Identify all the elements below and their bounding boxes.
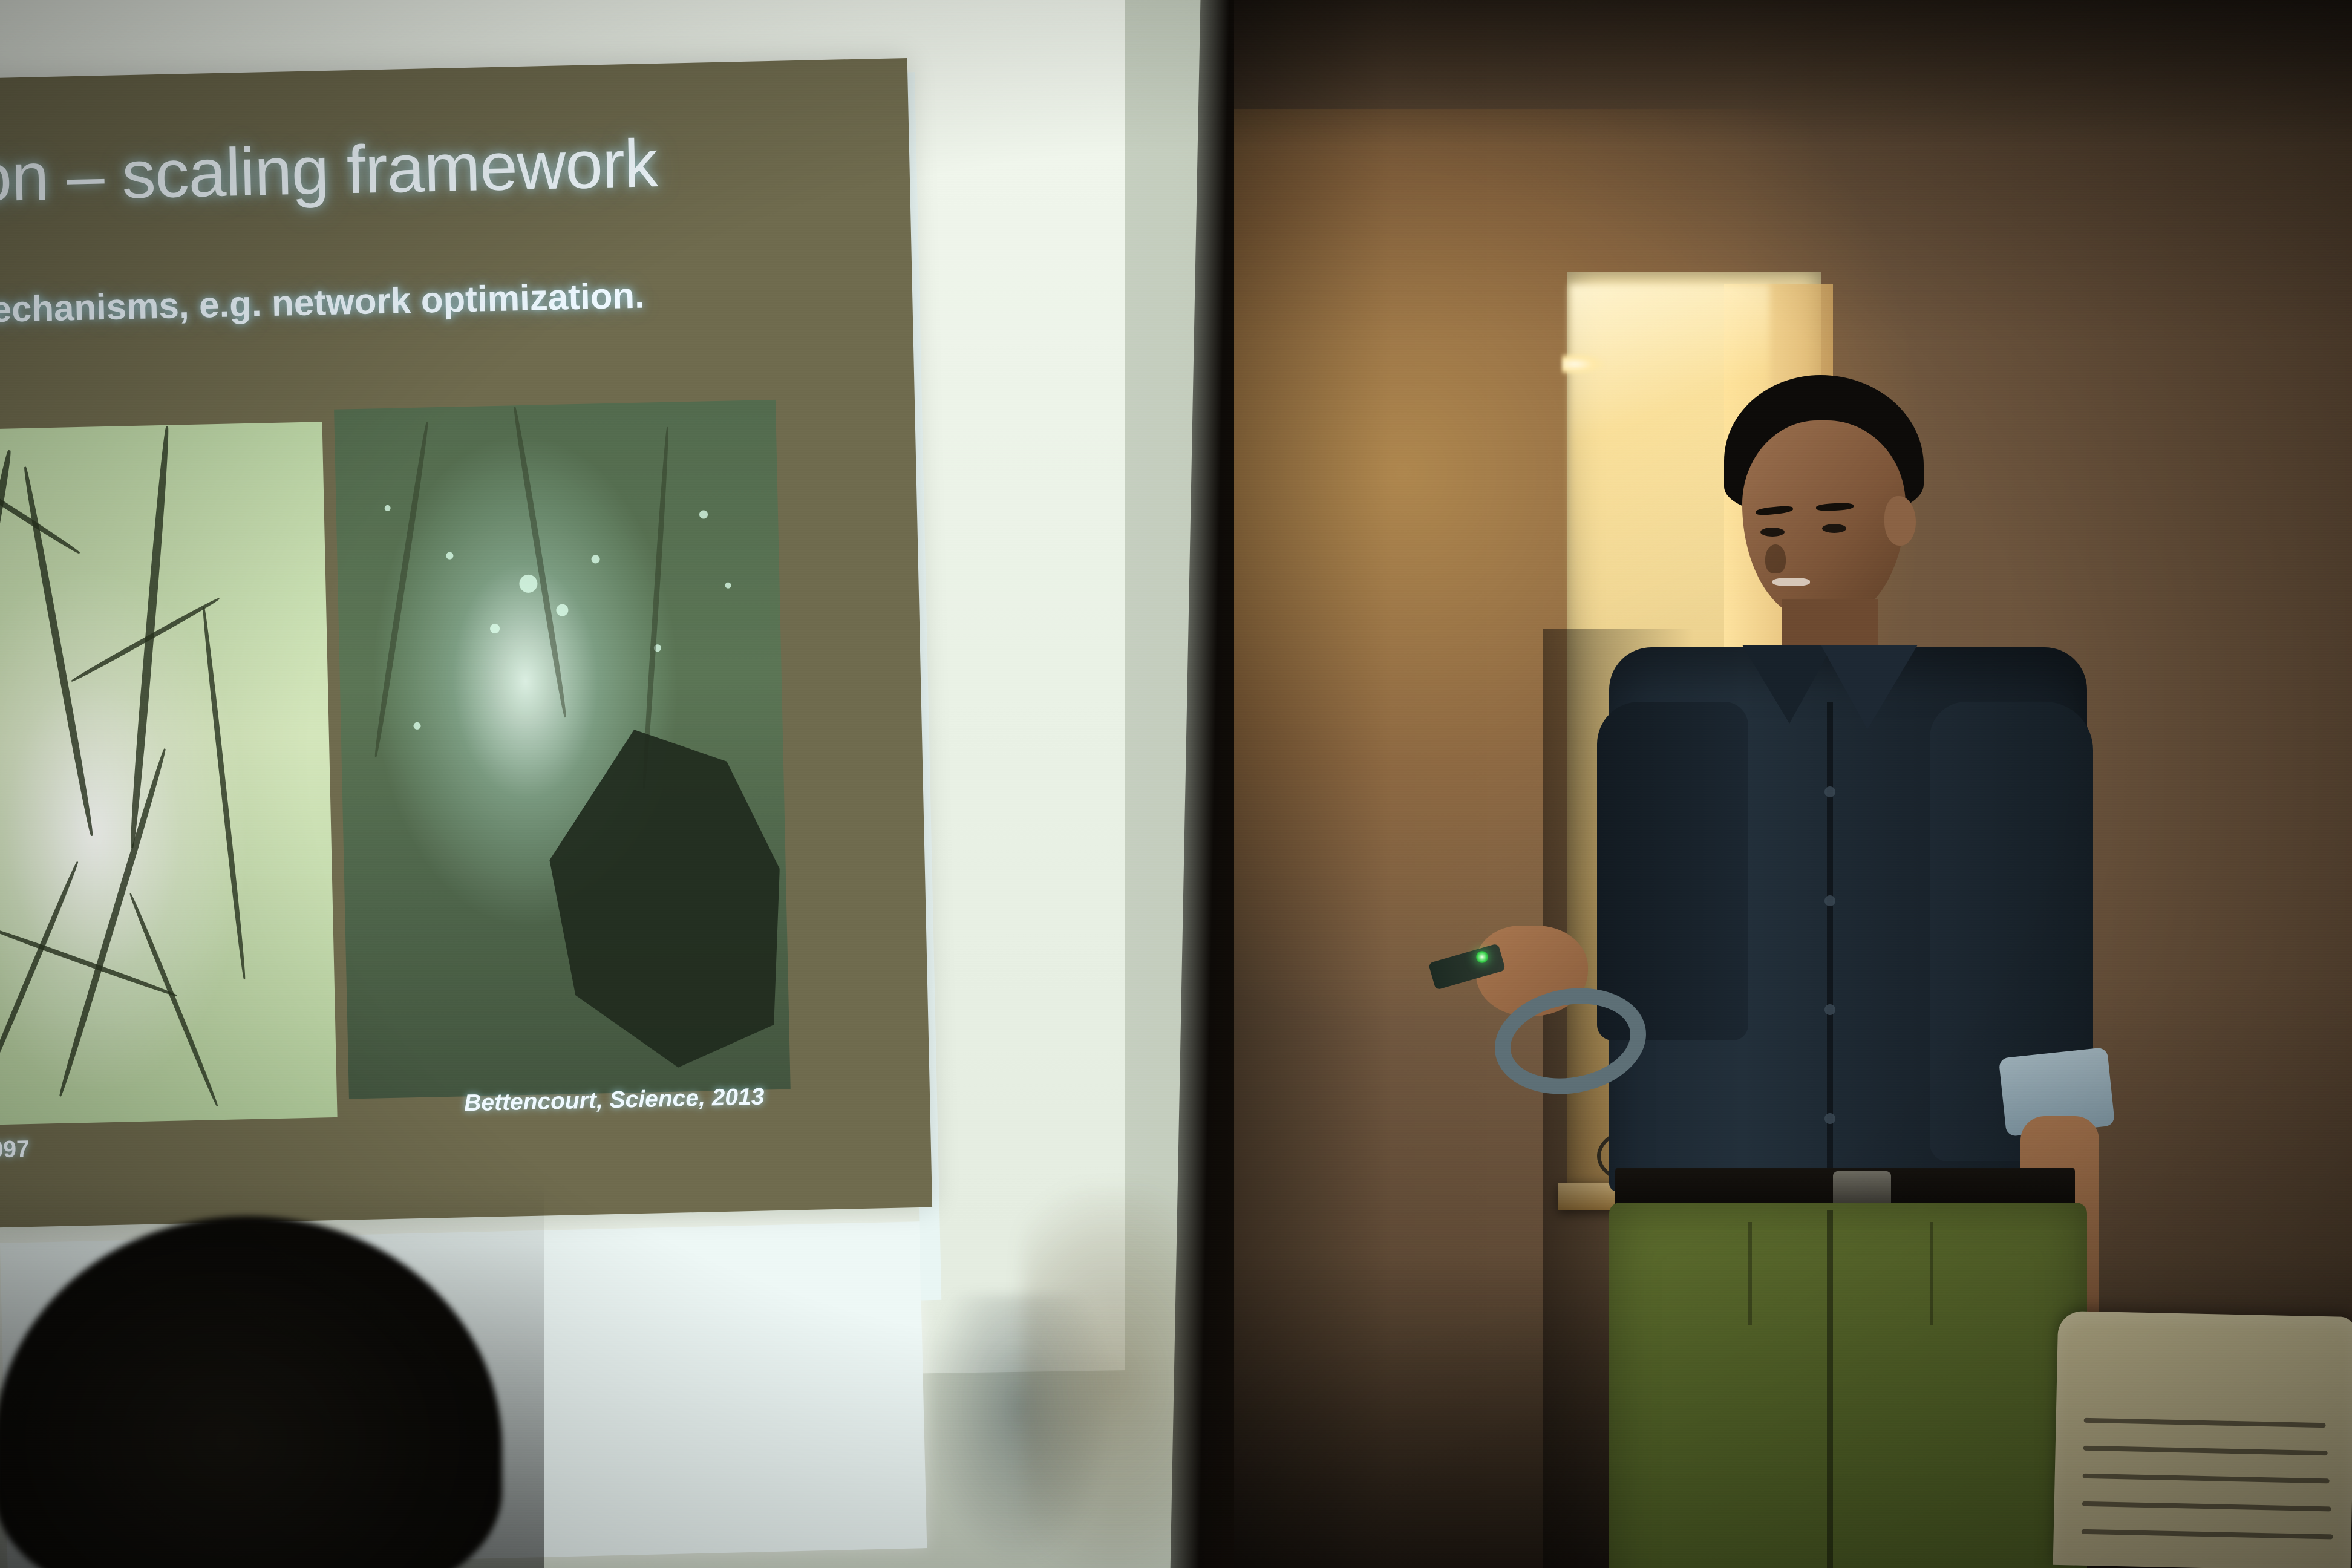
presenter-shirt-placket bbox=[1827, 702, 1833, 1180]
presenter-mouth bbox=[1772, 578, 1810, 586]
wall-top-shadow bbox=[1234, 0, 2352, 145]
chair-back bbox=[2053, 1311, 2352, 1568]
city-dark-water-region bbox=[547, 727, 784, 1070]
slide-figure-tree-canopy bbox=[0, 422, 338, 1126]
slide-citation-left: e, 1997 bbox=[0, 1136, 30, 1165]
slide-body-text: mechanisms, e.g. network optimization. bbox=[0, 275, 645, 332]
pants-center-seam bbox=[1827, 1210, 1833, 1568]
slide-title: ion – scaling framework bbox=[0, 124, 658, 217]
shirt-button bbox=[1824, 1113, 1835, 1124]
photo-scene: ion – scaling framework mechanisms, e.g.… bbox=[0, 0, 2352, 1568]
presenter-eye-right bbox=[1822, 524, 1846, 533]
citation-author: Bettencourt, bbox=[464, 1087, 610, 1116]
shirt-button bbox=[1824, 895, 1835, 906]
presenter-nose bbox=[1765, 544, 1786, 573]
presenter-face bbox=[1742, 420, 1906, 620]
pants-pocket-left bbox=[1633, 1222, 1752, 1325]
citation-year: , 2013 bbox=[699, 1084, 765, 1111]
presenter-left-arm bbox=[1597, 702, 1748, 1040]
shirt-button bbox=[1824, 786, 1835, 797]
presenter-ear bbox=[1884, 496, 1916, 546]
shirt-button bbox=[1824, 1004, 1835, 1015]
clicker-led-indicator bbox=[1476, 951, 1488, 963]
slide-figure-city-lights bbox=[334, 400, 791, 1099]
pants-pocket-right bbox=[1930, 1222, 2048, 1325]
presentation-slide: ion – scaling framework mechanisms, e.g.… bbox=[0, 58, 932, 1228]
slide-citation-right: Bettencourt, Science, 2013 bbox=[464, 1084, 765, 1117]
presenter-eye-left bbox=[1760, 528, 1785, 537]
presenter-belt-buckle bbox=[1833, 1171, 1891, 1207]
citation-journal: Science bbox=[609, 1085, 699, 1113]
